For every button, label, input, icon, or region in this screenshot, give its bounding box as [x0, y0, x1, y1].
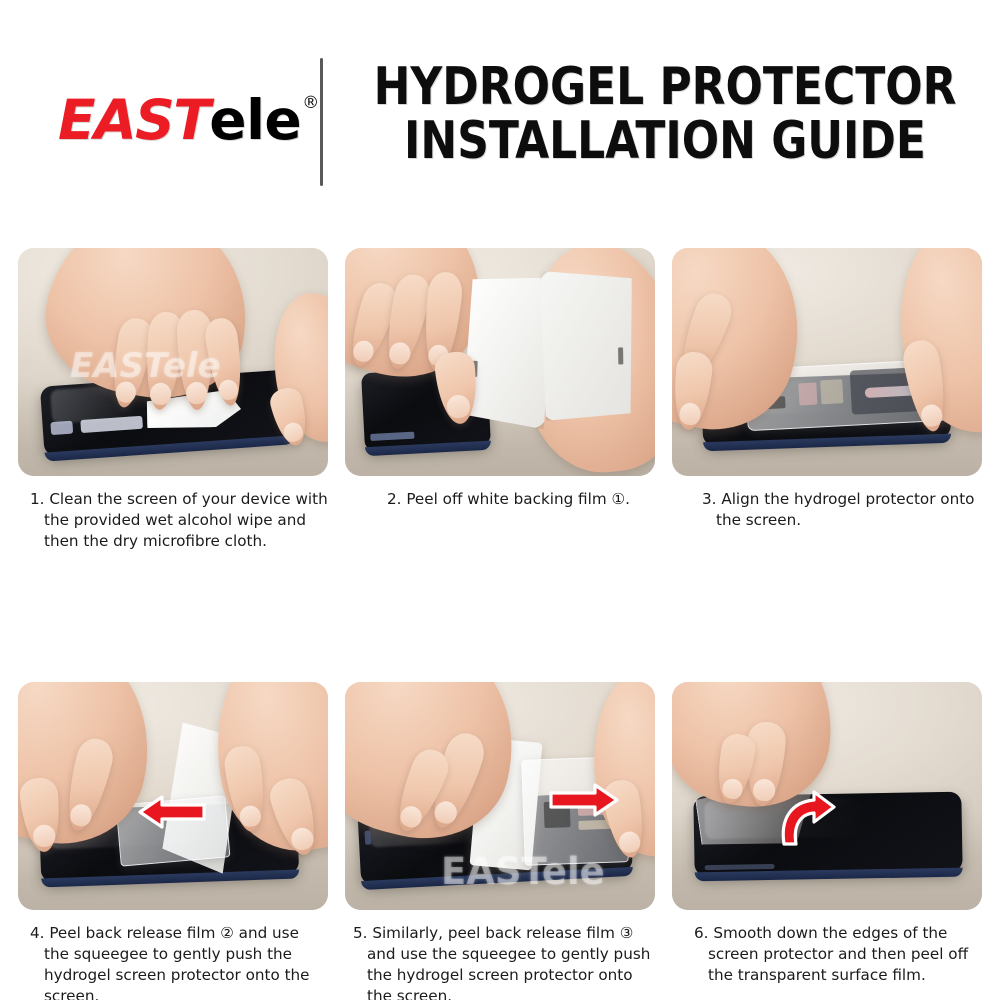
- white-backing-film-front: [462, 275, 552, 430]
- step-cell-1: EASTele 1. Clean the screen of your devi…: [18, 248, 328, 552]
- step-cell-5: EASTele 5. Similarly, peel back release …: [345, 682, 655, 1000]
- step-cell-6: 6. Smooth down the edges of the screen p…: [672, 682, 982, 1000]
- arrow-curved-up-right-icon: [776, 790, 840, 848]
- arrow-right-icon: [545, 782, 621, 818]
- step-caption-5: 5. Similarly, peel back release film ③ a…: [353, 923, 655, 1000]
- step-photo-3: [672, 248, 982, 476]
- fingernail: [617, 830, 641, 854]
- logo-primary-text: EAST: [58, 93, 209, 148]
- screen-ui-bar: [370, 432, 414, 441]
- white-backing-film-back: [540, 269, 635, 421]
- title-line-2: INSTALLATION GUIDE: [374, 114, 957, 168]
- fingernail: [32, 824, 56, 848]
- step-caption-4: 4. Peel back release film ② and use the …: [30, 923, 328, 1000]
- step-photo-5: EASTele: [345, 682, 655, 910]
- registered-trademark-icon: ®: [302, 95, 319, 112]
- step-cell-3: 3. Align the hydrogel protector onto the…: [672, 248, 982, 552]
- step-caption-3: 3. Align the hydrogel protector onto the…: [702, 489, 982, 531]
- film-tab-mark: [618, 347, 623, 364]
- arrow-left-icon: [136, 794, 208, 830]
- page-title: HYDROGEL PROTECTOR INSTALLATION GUIDE: [355, 60, 975, 168]
- installation-guide-page: EAST ele ® HYDROGEL PROTECTOR INSTALLATI…: [0, 0, 1000, 1000]
- step-cell-4: 4. Peel back release film ② and use the …: [18, 682, 328, 1000]
- step-cell-2: 2. Peel off white backing film ①.: [345, 248, 655, 552]
- step-caption-2: 2. Peel off white backing film ①.: [387, 489, 655, 510]
- brand-logo: EAST ele ®: [58, 93, 319, 148]
- steps-row-2: 4. Peel back release film ② and use the …: [0, 682, 1000, 1000]
- step-photo-6: [672, 682, 982, 910]
- step-photo-1: EASTele: [18, 248, 328, 476]
- step-photo-2: [345, 248, 655, 476]
- film-print-mark: [798, 383, 817, 406]
- page-header: EAST ele ® HYDROGEL PROTECTOR INSTALLATI…: [0, 0, 1000, 225]
- title-line-1: HYDROGEL PROTECTOR: [374, 60, 957, 114]
- fingernail: [446, 394, 471, 419]
- step-caption-6: 6. Smooth down the edges of the screen p…: [694, 923, 982, 986]
- fingernail: [238, 804, 262, 828]
- step-photo-4: [18, 682, 328, 910]
- fingernail: [186, 382, 208, 405]
- screen-ui-bar: [705, 864, 775, 870]
- logo-secondary-text: ele: [209, 93, 301, 148]
- header-divider: [320, 58, 323, 186]
- screen-ui-block: [364, 830, 371, 844]
- screen-ui-block: [50, 421, 73, 436]
- steps-grid: EASTele 1. Clean the screen of your devi…: [0, 248, 1000, 1000]
- step-caption-1: 1. Clean the screen of your device with …: [30, 489, 328, 552]
- film-print-mark: [820, 379, 843, 404]
- steps-row-1: EASTele 1. Clean the screen of your devi…: [0, 248, 1000, 552]
